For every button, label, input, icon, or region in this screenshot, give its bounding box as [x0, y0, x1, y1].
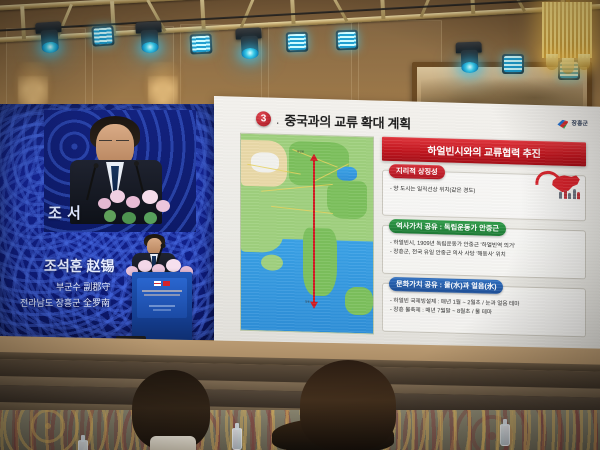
section-pill-culture: 문화가치 공유 : 물(水)과 얼음(氷) — [389, 277, 503, 294]
presentation-slide: 3 . 중국과의 교류 확대 계획 장흥군 — [214, 96, 600, 353]
audience-head-female — [300, 360, 396, 450]
flower-arrangement — [96, 188, 174, 232]
slide-number-dot: . — [276, 112, 279, 126]
slide-title: 중국과의 교류 확대 계획 — [284, 110, 411, 133]
podium — [132, 272, 192, 344]
water-bottle — [78, 440, 88, 450]
section-pill-geographic: 지리적 상징성 — [389, 164, 445, 180]
par-can-light — [189, 33, 212, 54]
water-bottle — [500, 424, 510, 446]
par-can-light — [286, 32, 309, 53]
map-label-harbin: 하얼빈 — [297, 149, 304, 153]
slide-banner: 하얼빈시와의 교류협력 추진 — [382, 137, 586, 167]
par-can-light — [502, 54, 524, 74]
section-pill-history: 역사가치 공유 : 독립운동가 안중근 — [389, 219, 506, 236]
water-bottle — [232, 428, 242, 450]
section-history: 역사가치 공유 : 독립운동가 안중근 - 하얼빈시, 1909년 독립운동가 … — [382, 225, 586, 280]
moving-head-light — [35, 21, 63, 53]
korea-flag-icon — [154, 281, 161, 286]
logo-text: 장흥군 — [571, 121, 588, 128]
route-arrow-head-north — [310, 154, 318, 161]
route-arrow-head-south — [310, 302, 318, 309]
section-culture: 문화가치 공유 : 물(水)과 얼음(氷) - 하얼빈 국제빙설제 : 매년 1… — [382, 283, 586, 338]
par-can-light — [336, 30, 359, 51]
projection-screen: 3 . 중국과의 교류 확대 계획 장흥군 — [214, 96, 600, 353]
moving-head-light — [455, 42, 482, 73]
conference-photo: 조 서 조석훈 赵锡 부군수 副郡守 전라남도 장흥군 全罗南 — [0, 0, 600, 450]
speaker-org-caption: 전라남도 장흥군 全罗南 — [20, 296, 110, 309]
slide-body: 하얼빈 장흥 하얼빈시와의 교류협력 추진 지리적 상징성 — [240, 133, 586, 341]
par-can-light — [91, 25, 114, 46]
china-map-graphic — [535, 171, 581, 198]
china-flag-icon — [163, 281, 170, 286]
crystal-chandelier — [536, 0, 598, 74]
people-icons — [559, 189, 580, 200]
moving-head-light — [235, 27, 263, 58]
moving-head-light — [135, 21, 163, 52]
northeast-asia-map: 하얼빈 장흥 — [240, 133, 374, 335]
speaker-name-caption: 조석훈 赵锡 — [44, 256, 115, 276]
logo-mark-icon — [557, 120, 568, 129]
audience-collar — [150, 436, 196, 450]
section-geographic: 지리적 상징성 - 양 도시는 일직선상 위치(같은 경도) — [382, 170, 586, 222]
speaker-video-feed: 조 서 — [44, 110, 196, 232]
route-arrow-line — [313, 160, 315, 306]
slide-number-badge: 3 — [256, 111, 271, 126]
speaker-title-caption: 부군수 副郡守 — [56, 280, 110, 293]
feed-overlay-text: 조 서 — [48, 202, 81, 223]
podium-sign — [137, 278, 187, 318]
jangheung-gun-logo: 장흥군 — [557, 120, 588, 130]
flag-pair — [154, 281, 170, 286]
slide-header: 3 . 중국과의 교류 확대 계획 — [256, 109, 411, 132]
slide-content-column: 하얼빈시와의 교류협력 추진 지리적 상징성 - 양 도시는 일직선상 위치(같… — [382, 137, 586, 341]
